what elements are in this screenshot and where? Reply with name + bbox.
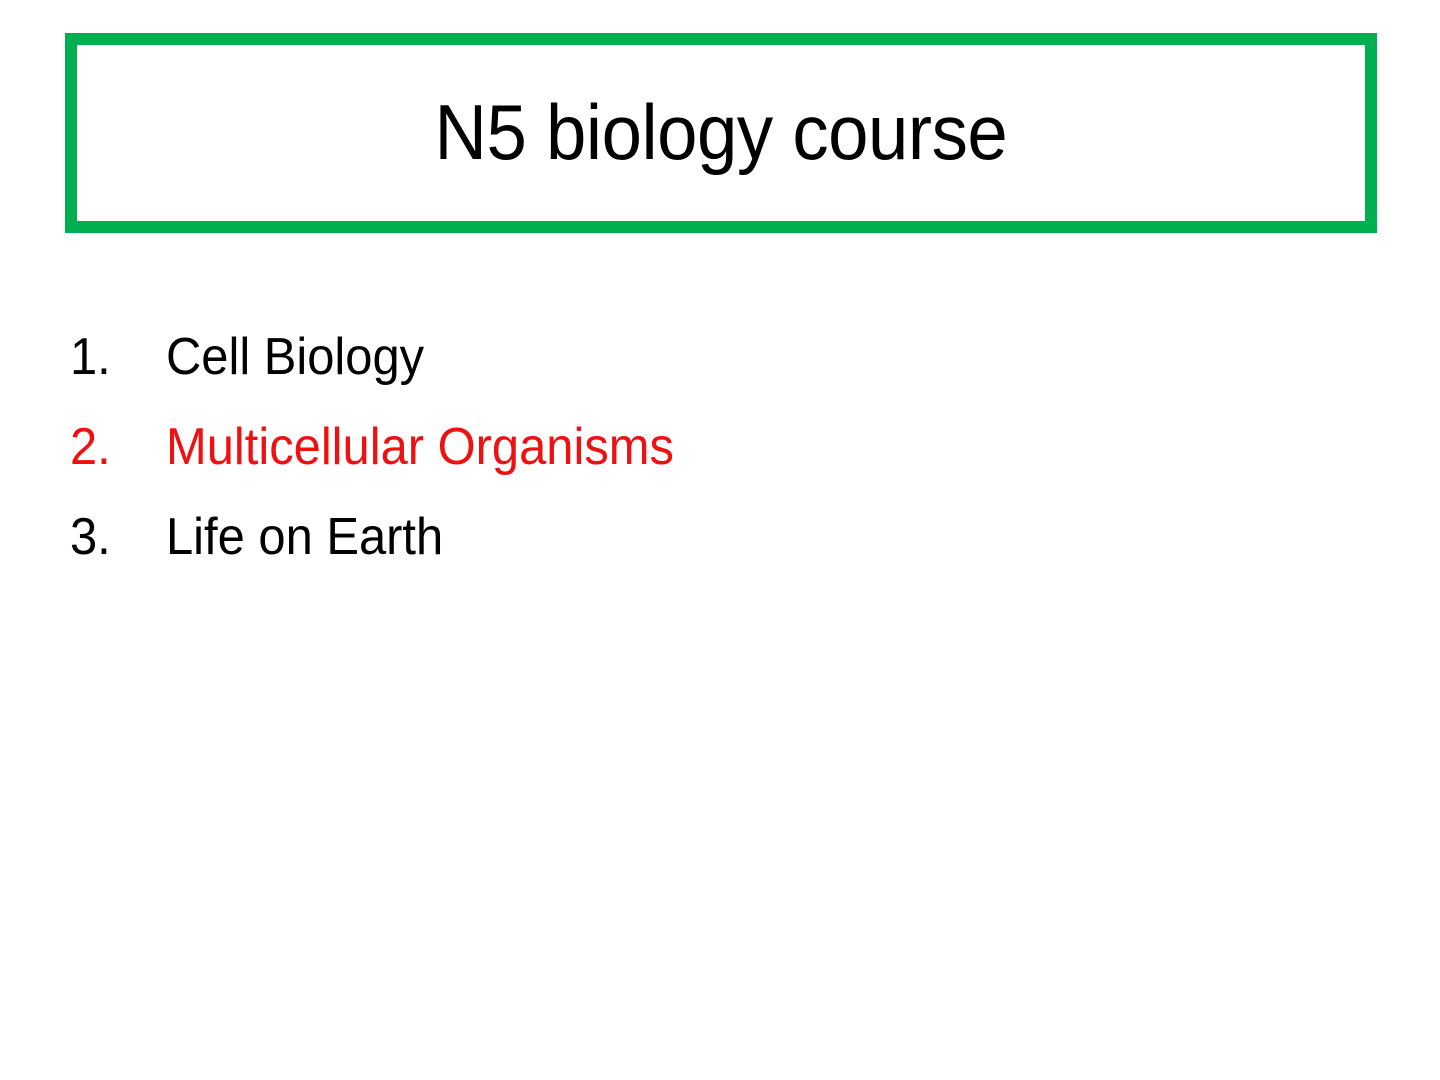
list-item-label: Multicellular Organisms [166,402,674,492]
slide-title: N5 biology course [435,90,1008,176]
presentation-slide: N5 biology course 1. Cell Biology 2. Mul… [0,0,1440,1080]
list-item-number: 2. [70,402,160,492]
slide-title-box: N5 biology course [65,33,1377,233]
list-item-number: 1. [70,312,160,402]
course-units-list: 1. Cell Biology 2. Multicellular Organis… [70,312,1370,582]
slide-empty-area [0,600,1440,1080]
list-item[interactable]: 3. Life on Earth [70,492,1370,582]
list-item-label: Cell Biology [166,312,424,402]
list-item-number: 3. [70,492,160,582]
list-item-label: Life on Earth [166,492,443,582]
list-item[interactable]: 2. Multicellular Organisms [70,402,1370,492]
list-item[interactable]: 1. Cell Biology [70,312,1370,402]
